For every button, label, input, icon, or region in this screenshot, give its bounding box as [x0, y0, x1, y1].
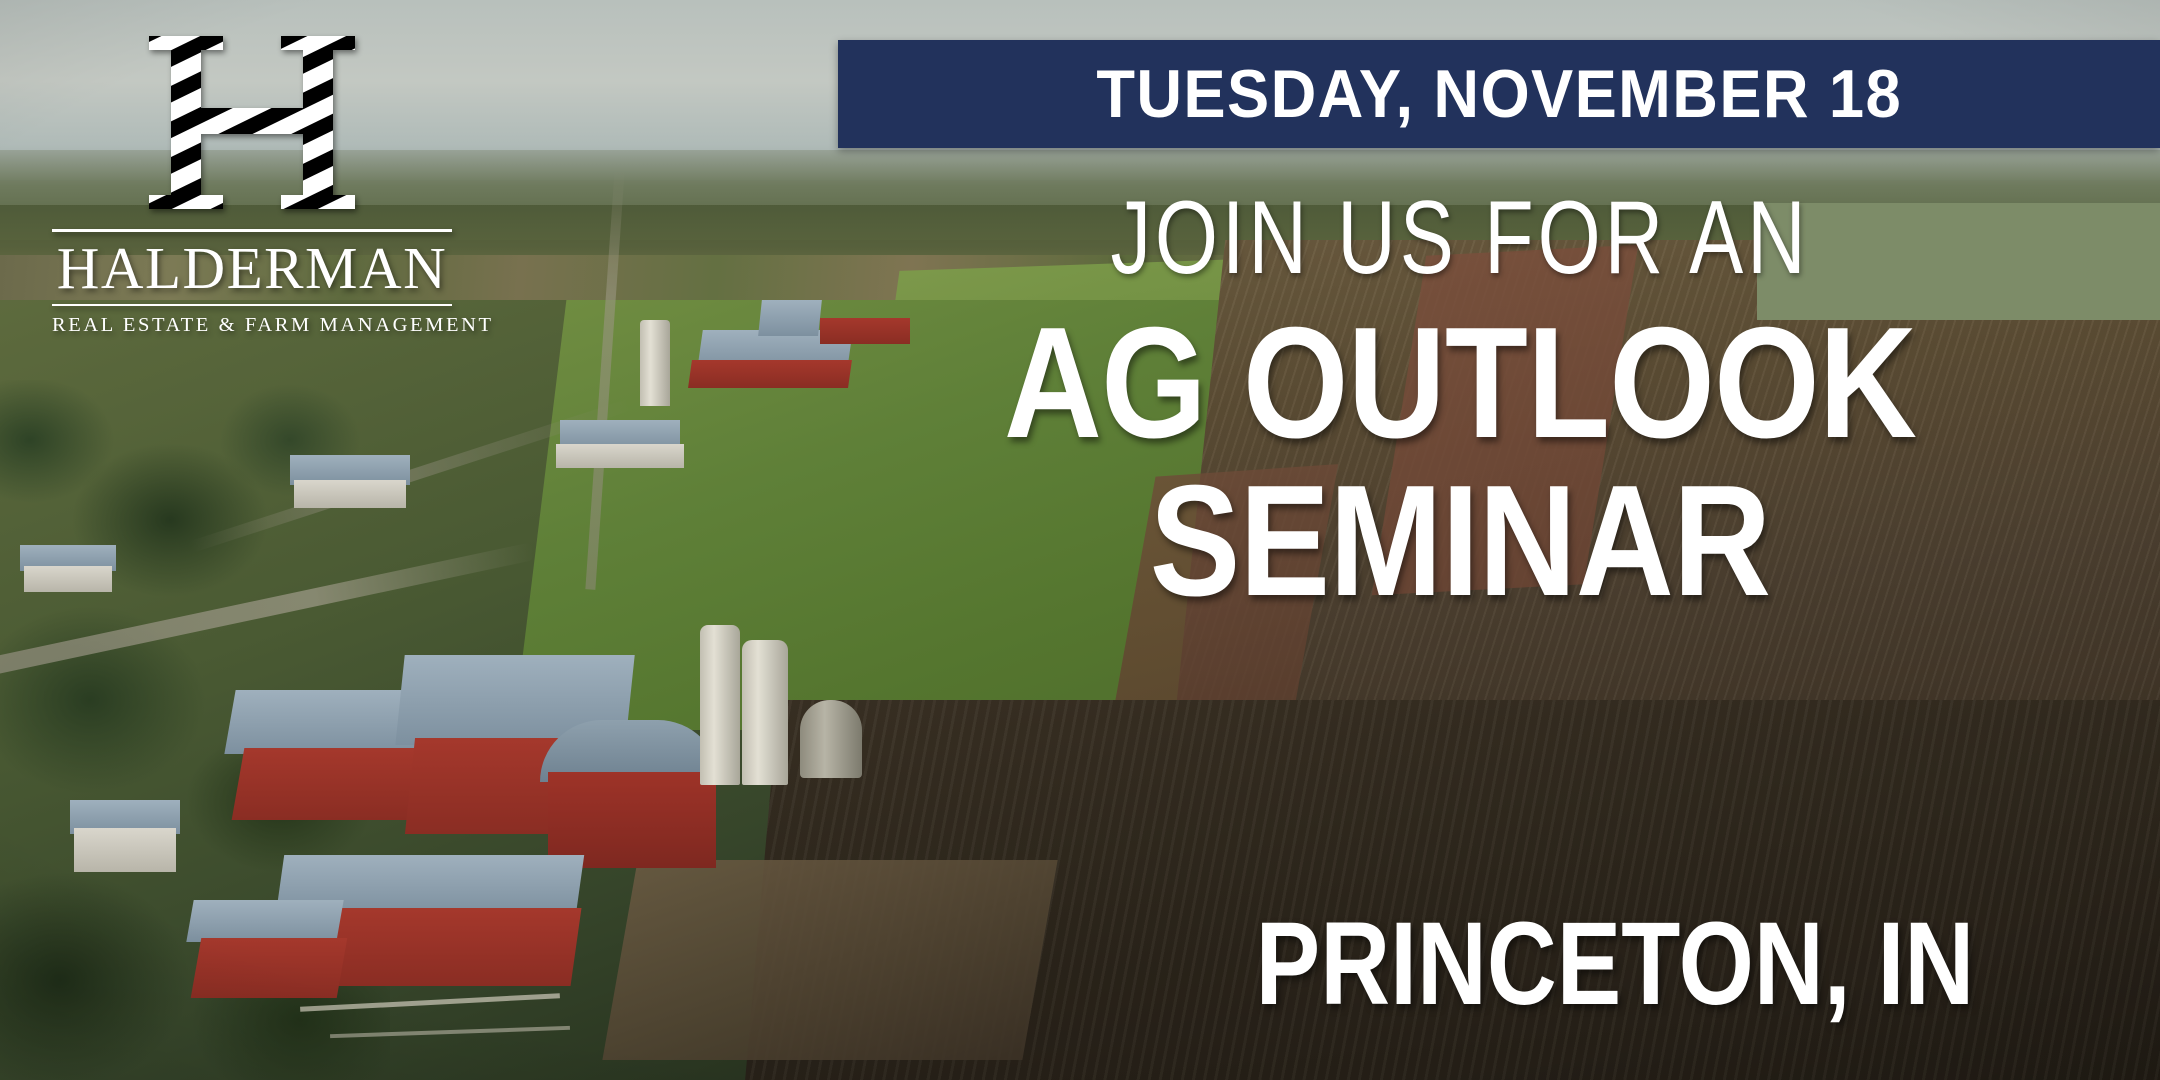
barn-yard: [602, 860, 1057, 1060]
silo-2: [742, 640, 788, 785]
barn-wall-4: [191, 938, 348, 998]
event-location: PRINCETON, IN: [1201, 905, 2029, 1023]
farmhouse-wall-b: [24, 566, 112, 592]
farmhouse-wall-a: [294, 480, 406, 508]
headline-title-line-2: SEMINAR: [927, 466, 1993, 618]
grain-bin: [800, 700, 862, 778]
farmhouse-wall-c: [74, 828, 176, 872]
silo-1: [700, 625, 740, 785]
event-poster: HALDERMAN REAL ESTATE & FARM MANAGEMENT …: [0, 0, 2160, 1080]
halderman-logo[interactable]: HALDERMAN REAL ESTATE & FARM MANAGEMENT: [52, 30, 452, 337]
distant-outbuilding-wall: [556, 444, 684, 468]
date-banner: TUESDAY, NOVEMBER 18: [838, 40, 2160, 148]
date-banner-text: TUESDAY, NOVEMBER 18: [1096, 55, 1902, 133]
halderman-h-monogram-icon: [137, 30, 367, 215]
brand-name: HALDERMAN: [52, 238, 452, 298]
distant-silo: [640, 320, 670, 406]
distant-shed-roof: [758, 300, 822, 336]
barn-roof-4: [186, 900, 343, 942]
logo-divider-top: [52, 229, 452, 232]
headline-kicker: JOIN US FOR AN: [976, 186, 1943, 290]
gambrel-barn-wall: [548, 772, 716, 868]
brand-tagline: REAL ESTATE & FARM MANAGEMENT: [52, 314, 452, 337]
headline-group: JOIN US FOR AN AG OUTLOOK SEMINAR: [840, 186, 2080, 617]
headline-title-line-1: AG OUTLOOK: [927, 308, 1993, 460]
distant-barn-wall: [688, 360, 852, 388]
logo-divider-bottom: [52, 304, 452, 306]
